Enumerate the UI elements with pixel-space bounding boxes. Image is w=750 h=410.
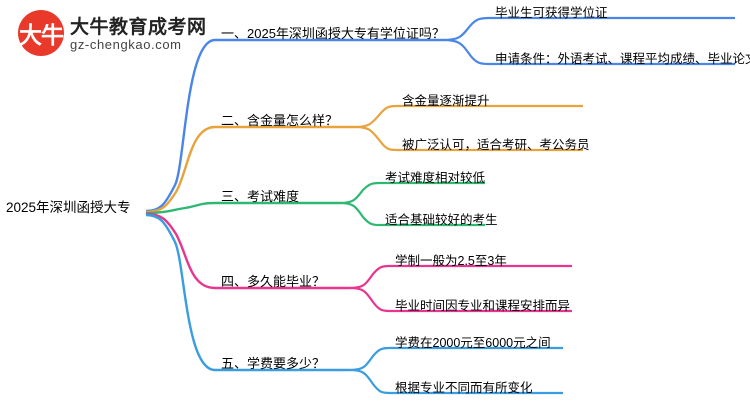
logo-title: 大牛教育成考网 bbox=[70, 12, 207, 39]
branch-label-2: 二、含金量怎么样？ bbox=[218, 109, 341, 132]
branch-label-3: 三、考试难度 bbox=[218, 185, 302, 208]
mindmap-canvas: 大牛 大牛教育成考网 gz-chengkao.com 2025年深圳函授大专 一… bbox=[0, 0, 750, 410]
branch-label-1: 一、2025年深圳函授大专有学位证吗？ bbox=[218, 22, 448, 45]
leaf-label-1-1: 毕业生可获得学位证 bbox=[492, 1, 611, 24]
leaf-label-4-2: 毕业时间因专业和课程安排而异 bbox=[392, 294, 573, 317]
leaf-label-3-2: 适合基础较好的考生 bbox=[382, 208, 501, 231]
logo-mark-icon: 大牛 bbox=[18, 10, 64, 56]
leaf-label-5-2: 根据专业不同而有所变化 bbox=[392, 376, 536, 399]
leaf-label-1-2: 申请条件：外语考试、课程平均成绩、毕业论文 bbox=[492, 47, 750, 70]
leaf-label-3-1: 考试难度相对较低 bbox=[382, 166, 488, 189]
logo-subtitle: gz-chengkao.com bbox=[70, 37, 182, 52]
leaf-label-5-1: 学费在2000元至6000元之间 bbox=[392, 331, 554, 354]
site-logo: 大牛 大牛教育成考网 gz-chengkao.com bbox=[18, 10, 208, 62]
branch-label-5: 五、学费要多少？ bbox=[218, 352, 328, 375]
mindmap-root-label: 2025年深圳函授大专 bbox=[6, 196, 131, 218]
leaf-label-4-1: 学制一般为2.5至3年 bbox=[392, 249, 510, 272]
leaf-label-2-2: 被广泛认可，适合考研、考公务员 bbox=[399, 133, 593, 156]
branch-label-4: 四、多久能毕业？ bbox=[218, 270, 328, 293]
leaf-label-2-1: 含金量逐渐提升 bbox=[399, 89, 493, 112]
